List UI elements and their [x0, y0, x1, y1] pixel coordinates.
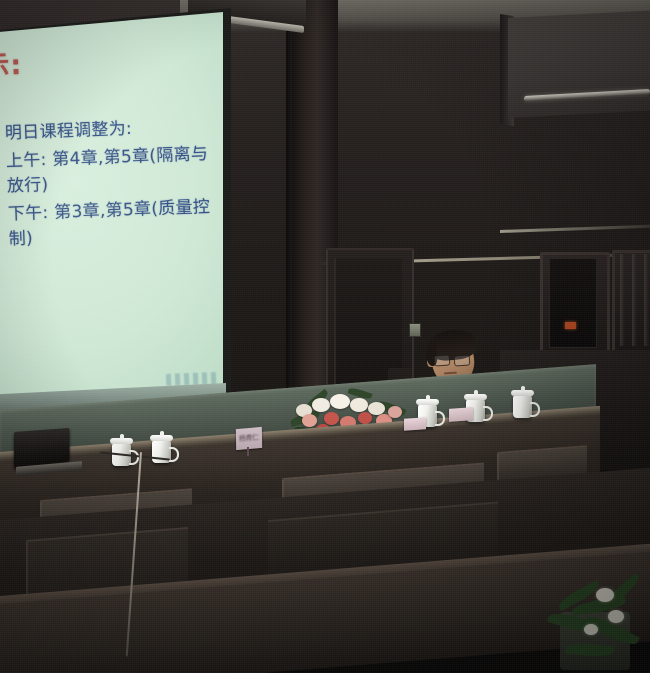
curtain-fold — [632, 254, 637, 346]
table-card — [449, 407, 473, 422]
slide-bullet-item: 下午: 第3章,第5章(质量控制) — [0, 195, 219, 254]
curtain-fold — [644, 254, 649, 346]
table-card — [404, 417, 426, 431]
name-placard-text: 杨育仁 — [239, 432, 259, 444]
eyeglass-lens-right — [454, 354, 471, 366]
projection-screen: 提示: 明日课程调整为: 上午: 第4章,第5章(隔离与放行) 下午: 第3章,… — [0, 12, 223, 418]
name-placard-stand — [247, 447, 249, 456]
conference-hall-photo: 提示: 明日课程调整为: 上午: 第4章,第5章(隔离与放行) 下午: 第3章,… — [0, 0, 650, 673]
jbl-speaker — [549, 258, 597, 348]
white-blossom — [596, 588, 614, 602]
slide-bullet-item: 上午: 第4章,第5章(隔离与放行) — [0, 142, 217, 201]
slide-title: 提示: — [0, 43, 23, 84]
upper-right-wall — [508, 11, 650, 118]
white-blossom — [608, 610, 624, 623]
curtain-fold — [620, 254, 625, 346]
jbl-logo-icon — [565, 322, 576, 329]
eyeglass-lens-left — [434, 354, 451, 366]
white-blossom — [584, 624, 598, 635]
tea-cup — [513, 395, 532, 418]
name-placard: 杨育仁 — [236, 427, 262, 450]
presentation-slide: 提示: 明日课程调整为: 上午: 第4章,第5章(隔离与放行) 下午: 第3章,… — [0, 12, 223, 418]
slide-bullet-list: 明日课程调整为: 上午: 第4章,第5章(隔离与放行) 下午: 第3章,第5章(… — [0, 114, 219, 257]
